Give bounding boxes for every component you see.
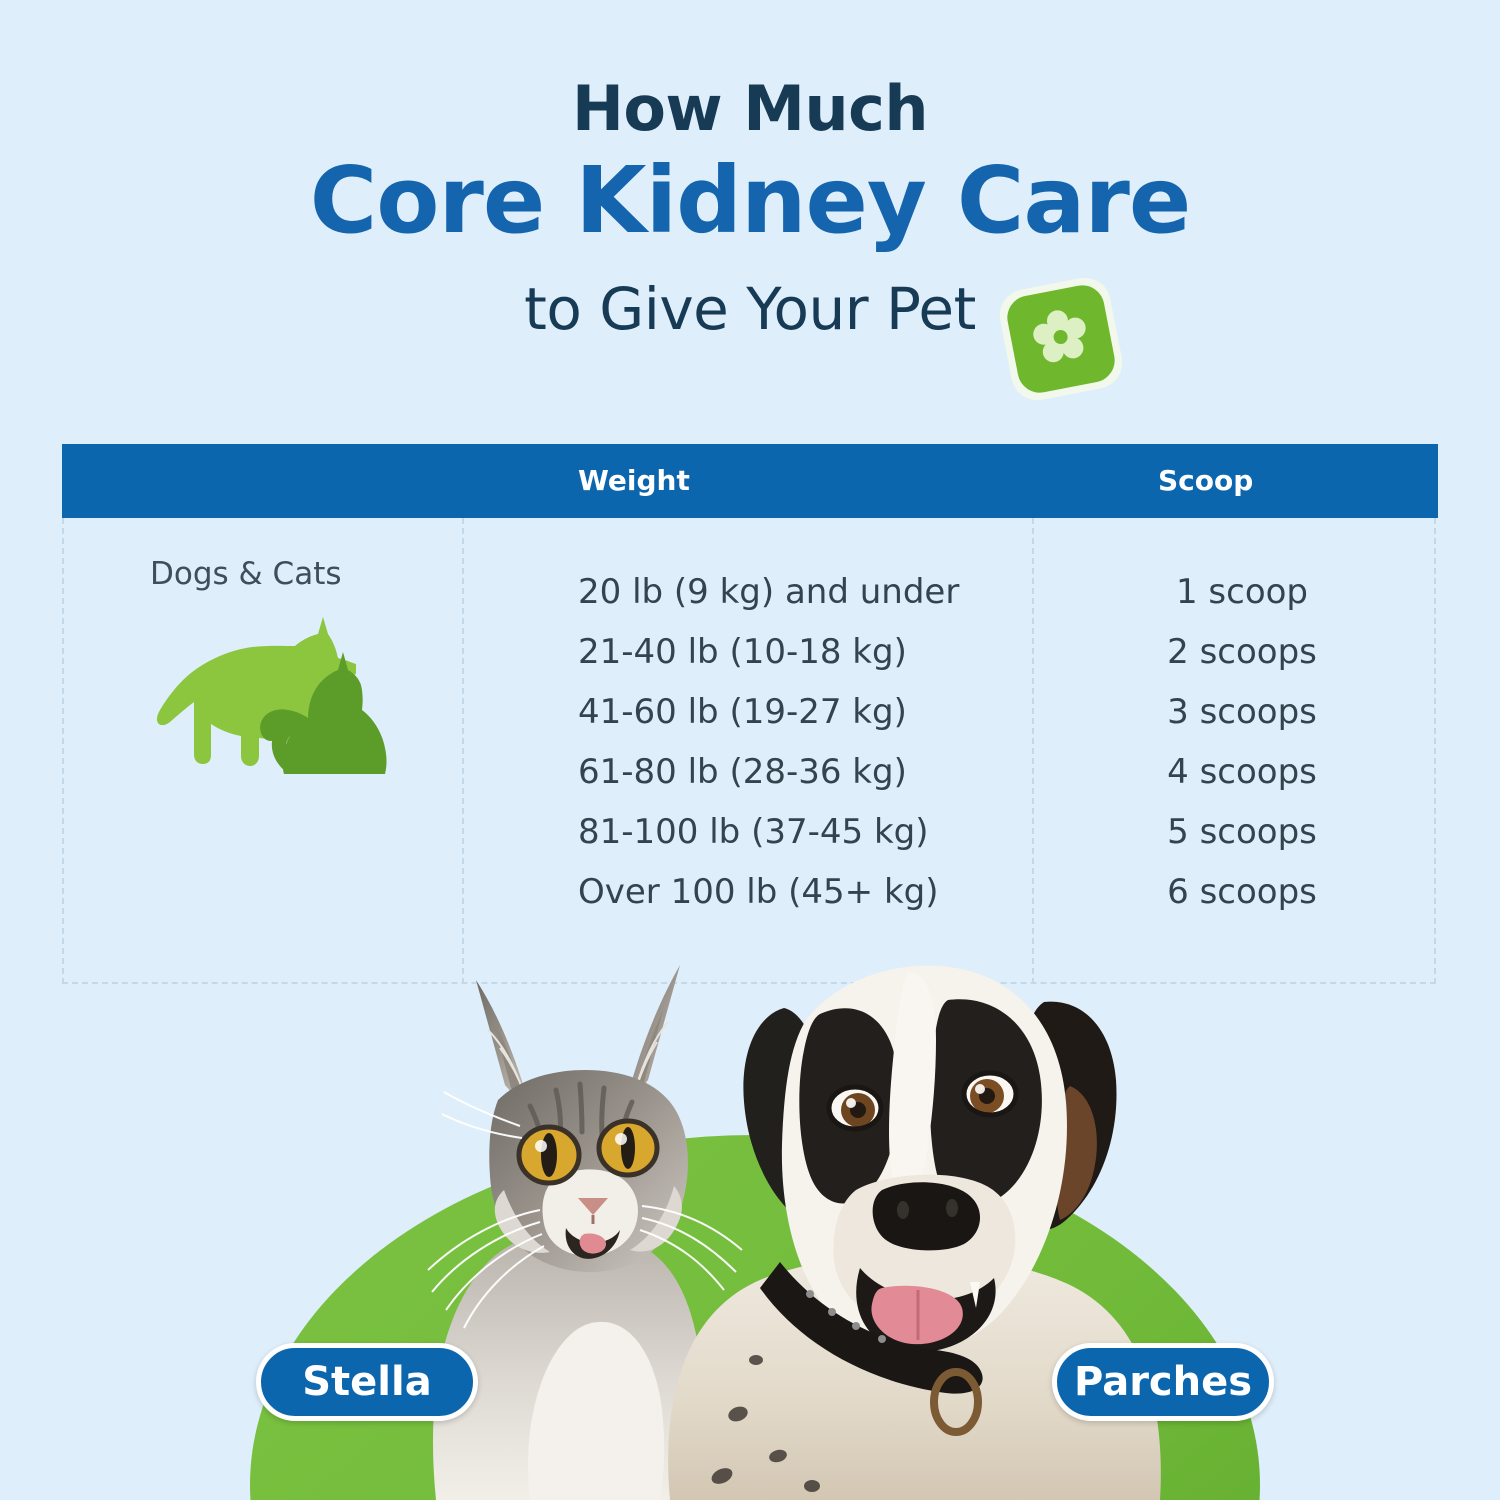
flower-icon [1026, 304, 1096, 374]
column-header-weight: Weight [578, 464, 690, 497]
table-row: 3 scoops [1092, 682, 1392, 742]
table-row: 5 scoops [1092, 802, 1392, 862]
page-title-line-2: Core Kidney Care [0, 155, 1500, 247]
table-header-row: Weight Scoop [62, 444, 1438, 518]
pet-photo-area [0, 900, 1500, 1500]
column-header-scoop: Scoop [1158, 464, 1253, 497]
pet-name-badge-stella: Stella [256, 1343, 478, 1421]
species-label: Dogs & Cats [150, 556, 342, 592]
table-row: 81-100 lb (37-45 kg) [578, 802, 1008, 862]
table-row: 4 scoops [1092, 742, 1392, 802]
dog-and-cat-silhouette-icon [142, 604, 412, 779]
page-title-line-3-row: to Give Your Pet [0, 280, 1500, 400]
page-title-line-3: to Give Your Pet [0, 280, 1500, 338]
weight-column: 20 lb (9 kg) and under 21-40 lb (10-18 k… [578, 562, 1008, 922]
table-row: 2 scoops [1092, 622, 1392, 682]
table-row: 21-40 lb (10-18 kg) [578, 622, 1008, 682]
table-row: 61-80 lb (28-36 kg) [578, 742, 1008, 802]
page-header: How Much Core Kidney Care to Give Your P… [0, 0, 1500, 430]
table-row: 1 scoop [1092, 562, 1392, 622]
page-title-line-1: How Much [0, 78, 1500, 140]
scoop-column: 1 scoop 2 scoops 3 scoops 4 scoops 5 sco… [1092, 562, 1392, 922]
table-row: 41-60 lb (19-27 kg) [578, 682, 1008, 742]
table-row: 20 lb (9 kg) and under [578, 562, 1008, 622]
pet-name-badge-parches: Parches [1052, 1343, 1274, 1421]
flower-badge-icon [995, 273, 1126, 404]
